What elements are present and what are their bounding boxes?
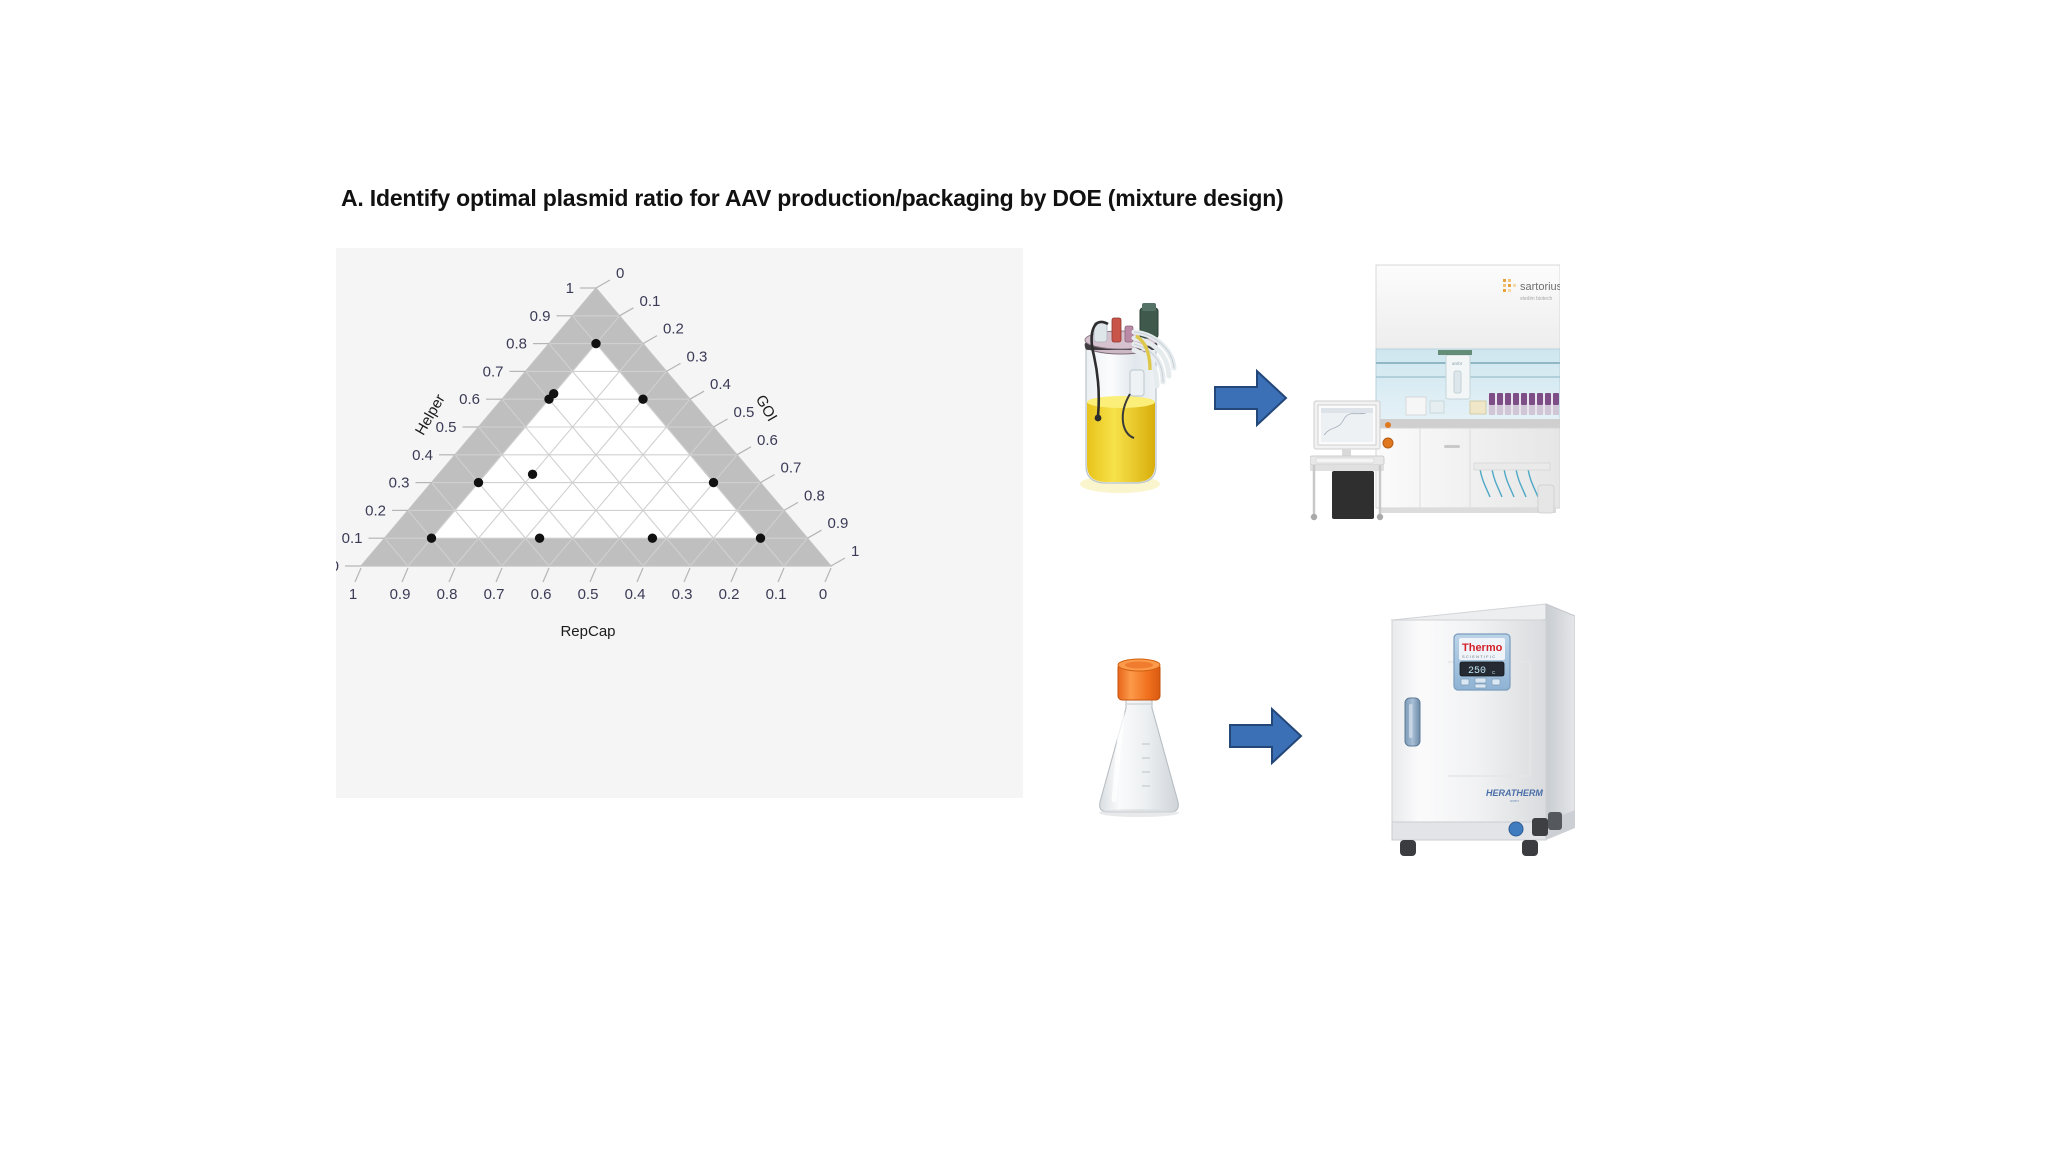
ternary-plot-svg: 10.90.80.70.60.50.40.30.20.1000.10.20.30… bbox=[336, 248, 1023, 798]
ternary-tick-label: 1 bbox=[851, 543, 859, 560]
ternary-data-point bbox=[638, 395, 647, 404]
shake-flask-image bbox=[1082, 652, 1182, 822]
ternary-tick-label: 0.7 bbox=[781, 460, 802, 477]
ternary-tick-label: 0.1 bbox=[342, 530, 363, 547]
thermo-heratherm-incubator-image: Thermo SCIENTIFIC 250 C HERATHERM oven bbox=[1380, 590, 1575, 865]
ternary-data-point bbox=[427, 534, 436, 543]
ternary-tick-label: 0.9 bbox=[390, 586, 411, 603]
axis-title-repcap: RepCap bbox=[560, 623, 615, 640]
svg-text:stedim biotech: stedim biotech bbox=[1520, 296, 1552, 302]
incubator-button-up bbox=[1475, 678, 1486, 683]
ternary-data-point bbox=[549, 389, 558, 398]
workflow-arrow-bottom bbox=[1228, 705, 1303, 767]
ternary-data-point bbox=[709, 478, 718, 487]
ternary-data-point bbox=[591, 339, 600, 348]
ternary-tick-label: 0.3 bbox=[389, 475, 410, 492]
ternary-tick-label: 0.7 bbox=[484, 586, 505, 603]
heratherm-model-text: HERATHERM bbox=[1486, 788, 1543, 798]
ternary-tick-label: 0.1 bbox=[640, 293, 661, 310]
svg-text:ambr: ambr bbox=[1452, 361, 1463, 366]
ternary-tick-label: 0.2 bbox=[719, 586, 740, 603]
incubator-knob bbox=[1509, 822, 1523, 836]
thermo-brand-text: Thermo bbox=[1462, 642, 1503, 654]
incubator-button-right bbox=[1492, 679, 1500, 685]
thermo-brand-subtext: SCIENTIFIC bbox=[1462, 654, 1496, 659]
incubator-button-down bbox=[1475, 684, 1486, 688]
ternary-tick-label: 0 bbox=[336, 558, 339, 575]
bioreactor-vessel-image bbox=[1068, 298, 1198, 496]
ternary-tick-label: 1 bbox=[349, 586, 357, 603]
ternary-tick-label: 0 bbox=[616, 265, 624, 282]
ternary-data-point bbox=[756, 534, 765, 543]
ternary-tick-label: 0.1 bbox=[766, 586, 787, 603]
ternary-tick-label: 0.6 bbox=[531, 586, 552, 603]
svg-text:oven: oven bbox=[1510, 798, 1519, 803]
ternary-tick-label: 0.4 bbox=[710, 376, 731, 393]
ternary-tick-label: 0.5 bbox=[578, 586, 599, 603]
workflow-arrow-top bbox=[1213, 367, 1288, 429]
incubator-foot-left bbox=[1400, 840, 1416, 856]
ternary-tick-label: 0.4 bbox=[412, 447, 433, 464]
ternary-tick-label: 0.5 bbox=[734, 404, 755, 421]
ternary-tick-label: 0.6 bbox=[757, 432, 778, 449]
page-title: A. Identify optimal plasmid ratio for AA… bbox=[341, 185, 1284, 212]
ternary-data-point bbox=[535, 534, 544, 543]
ternary-tick-label: 0.9 bbox=[530, 308, 551, 325]
ternary-tick-label: 0.3 bbox=[687, 348, 708, 365]
ternary-data-point bbox=[474, 478, 483, 487]
ternary-data-point bbox=[528, 470, 537, 479]
ternary-tick-label: 0.8 bbox=[506, 336, 527, 353]
incubator-foot-right bbox=[1522, 840, 1538, 856]
ternary-tick-label: 0.5 bbox=[436, 419, 457, 436]
ternary-tick-label: 0.6 bbox=[459, 391, 480, 408]
ternary-tick-label: 0.4 bbox=[625, 586, 646, 603]
incubator-button-left bbox=[1461, 679, 1469, 685]
ternary-tick-label: 0.9 bbox=[828, 515, 849, 532]
ternary-tick-label: 0.2 bbox=[365, 502, 386, 519]
ternary-tick-label: 0.7 bbox=[483, 363, 504, 380]
ternary-tick-label: 0.8 bbox=[804, 487, 825, 504]
ternary-tick-label: 1 bbox=[566, 280, 574, 297]
sartorius-ambr-system-image: sartorius stedim biotech ambr bbox=[1310, 259, 1560, 521]
incubator-display-value: 250 bbox=[1468, 666, 1486, 677]
ternary-tick-label: 0.2 bbox=[663, 321, 684, 338]
svg-text:sartorius: sartorius bbox=[1520, 281, 1560, 293]
ternary-tick-label: 0 bbox=[819, 586, 827, 603]
ternary-plot-panel: 10.90.80.70.60.50.40.30.20.1000.10.20.30… bbox=[336, 248, 1023, 798]
ternary-tick-label: 0.3 bbox=[672, 586, 693, 603]
ternary-data-point bbox=[648, 534, 657, 543]
ternary-tick-label: 0.8 bbox=[437, 586, 458, 603]
